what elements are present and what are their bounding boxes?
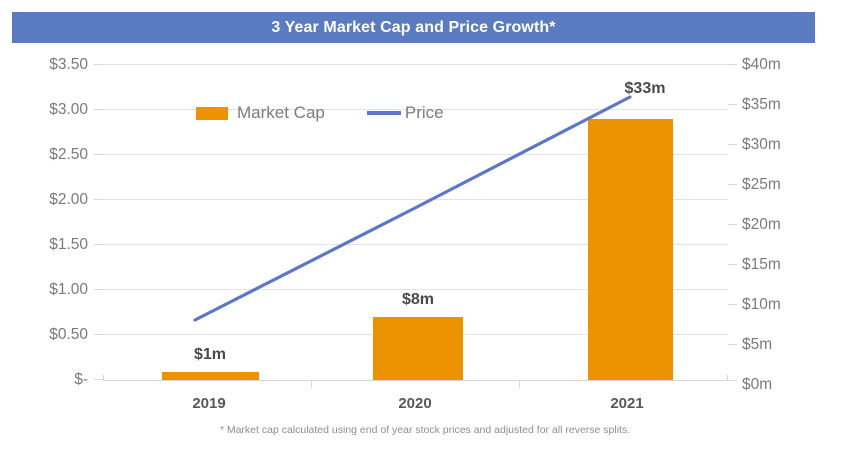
left-axis-tick-mark (94, 154, 103, 155)
right-axis-tick-label: $35m (742, 96, 781, 114)
x-axis-category-2021: 2021 (575, 395, 679, 412)
right-axis-tick-mark (728, 144, 737, 145)
chart-footnote: * Market cap calculated using end of yea… (0, 424, 850, 436)
right-axis-tick-label: $5m (742, 336, 772, 354)
x-axis-left-cap (103, 375, 104, 381)
right-axis-tick-mark (728, 224, 737, 225)
right-axis-tick-label: $10m (742, 296, 781, 314)
x-axis-tick (519, 381, 520, 388)
right-axis-tick-mark (728, 304, 737, 305)
legend-item-price[interactable]: Price (367, 103, 444, 123)
legend-label-price: Price (405, 103, 444, 123)
left-axis-tick-mark (94, 64, 103, 65)
right-axis-tick-mark (728, 344, 737, 345)
x-axis-line (103, 380, 728, 381)
bar-2020[interactable] (373, 317, 463, 380)
bar-2019[interactable] (162, 372, 259, 380)
left-axis-tick-label: $0.50 (49, 326, 88, 344)
left-axis-tick-mark (94, 334, 103, 335)
chart-container: 3 Year Market Cap and Price Growth* $3.5… (0, 0, 850, 452)
bar-value-label-2019: $1m (160, 346, 260, 364)
x-axis-right-cap (727, 375, 728, 381)
left-axis-tick-label: $- (74, 371, 88, 389)
left-axis-tick-label: $3.00 (49, 101, 88, 119)
left-axis-tick-mark (94, 109, 103, 110)
legend-item-market-cap[interactable]: Market Cap (196, 103, 325, 123)
gridline (103, 64, 728, 65)
bar-swatch-icon (196, 107, 228, 120)
chart-legend: Market Cap Price (196, 103, 486, 123)
right-axis-tick-label: $0m (742, 376, 772, 394)
left-axis-tick-label: $2.50 (49, 146, 88, 164)
page-title: 3 Year Market Cap and Price Growth* (271, 19, 555, 37)
right-axis-tick-label: $30m (742, 136, 781, 154)
left-axis-tick-label: $2.00 (49, 191, 88, 209)
left-axis-tick-mark (94, 199, 103, 200)
right-axis-tick-label: $20m (742, 216, 781, 234)
right-axis-tick-mark (728, 264, 737, 265)
right-axis-tick-mark (728, 64, 737, 65)
left-axis-tick-label: $1.50 (49, 236, 88, 254)
bar-value-label-2021: $33m (590, 80, 700, 98)
x-axis-category-2020: 2020 (363, 395, 467, 412)
bar-value-label-2020: $8m (368, 291, 468, 309)
bar-2021[interactable] (588, 119, 673, 380)
x-axis-category-2019: 2019 (157, 395, 261, 412)
left-axis-tick-mark (94, 289, 103, 290)
right-axis-tick-label: $15m (742, 256, 781, 274)
left-axis-tick-mark (94, 244, 103, 245)
right-axis-tick-mark (728, 104, 737, 105)
line-swatch-icon (367, 111, 401, 115)
x-axis-tick (311, 381, 312, 388)
left-axis-tick-mark (94, 379, 103, 380)
left-axis-tick-label: $3.50 (49, 56, 88, 74)
right-axis-tick-label: $40m (742, 56, 781, 74)
left-axis-tick-label: $1.00 (49, 281, 88, 299)
chart-title-banner: 3 Year Market Cap and Price Growth* (12, 12, 815, 43)
legend-label-market-cap: Market Cap (237, 103, 325, 123)
right-axis-tick-mark (728, 380, 737, 381)
right-axis-tick-mark (728, 184, 737, 185)
right-axis-tick-label: $25m (742, 176, 781, 194)
